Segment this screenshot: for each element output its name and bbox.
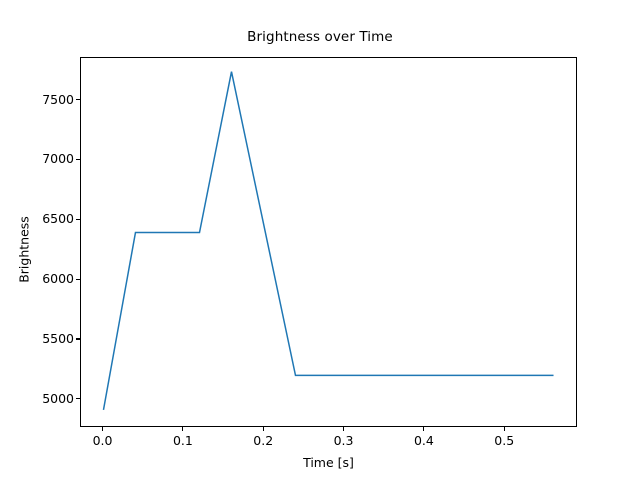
- y-tick-label: 7000: [0, 151, 74, 166]
- y-tick-label: 5000: [0, 391, 74, 406]
- x-tick-mark: [423, 427, 424, 431]
- y-tick-mark: [76, 159, 80, 160]
- x-tick-label: 0.0: [63, 433, 143, 448]
- matplotlib-figure: Brightness over Time 0.00.10.20.30.40.5 …: [0, 0, 640, 480]
- y-tick-label: 6500: [0, 211, 74, 226]
- y-tick-label: 5500: [0, 331, 74, 346]
- x-tick-label: 0.1: [143, 433, 223, 448]
- x-tick-mark: [504, 427, 505, 431]
- y-axis-label: Brightness: [17, 180, 32, 320]
- x-tick-mark: [263, 427, 264, 431]
- x-tick-label: 0.4: [384, 433, 464, 448]
- x-tick-mark: [182, 427, 183, 431]
- x-tick-mark: [343, 427, 344, 431]
- y-tick-mark: [76, 398, 80, 399]
- x-axis-label: Time [s]: [80, 455, 577, 470]
- line-series-svg: [81, 58, 576, 426]
- x-tick-label: 0.3: [304, 433, 384, 448]
- y-tick-label: 7500: [0, 92, 74, 107]
- plot-area: [80, 57, 577, 427]
- x-tick-label: 0.2: [223, 433, 303, 448]
- y-tick-mark: [76, 338, 80, 339]
- y-tick-label: 6000: [0, 271, 74, 286]
- y-tick-mark: [76, 279, 80, 280]
- data-line: [103, 72, 553, 410]
- page-title: Brightness over Time: [0, 29, 640, 45]
- y-tick-mark: [76, 99, 80, 100]
- x-tick-label: 0.5: [464, 433, 544, 448]
- y-tick-mark: [76, 219, 80, 220]
- x-tick-mark: [102, 427, 103, 431]
